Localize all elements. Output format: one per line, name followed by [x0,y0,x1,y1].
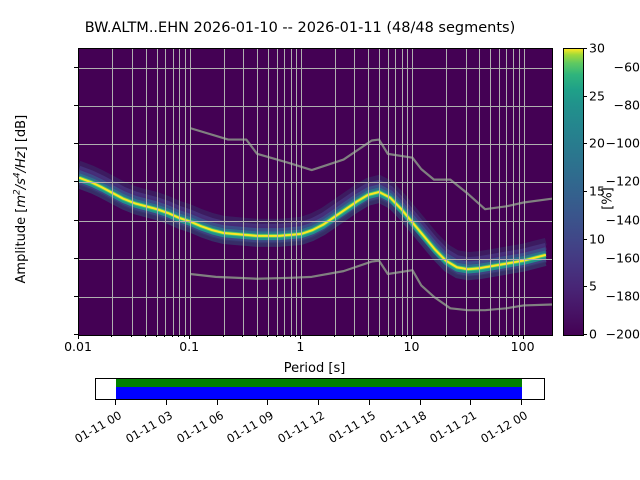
grid-line-vertical [335,49,336,335]
x-axis-minor-tick-mark [178,335,179,337]
y-axis-tick-mark [74,258,78,259]
colorbar-tick-label: 25 [589,88,605,103]
grid-line-vertical [157,49,158,335]
grid-line-vertical [185,49,186,335]
x-axis-minor-tick-mark [172,335,173,337]
grid-line-vertical [146,49,147,335]
coverage-tick-mark [420,400,421,405]
y-axis-tick-label: −160 [578,250,640,265]
psd-curves [79,49,552,335]
grid-line-vertical [165,49,166,335]
colorbar-tick-label: 20 [589,136,605,151]
x-axis-minor-tick-mark [295,335,296,337]
coverage-tick-label: 01-11 15 [317,408,378,451]
colorbar-tick-mark [583,334,587,335]
coverage-tick-mark [217,400,218,405]
colorbar-tick-label: 0 [589,327,597,342]
page-title: BW.ALTM..EHN 2026-01-10 -- 2026-01-11 (4… [0,20,600,36]
x-axis-minor-tick-mark [276,335,277,337]
coverage-tick-mark [369,400,370,405]
x-axis-minor-tick-mark [184,335,185,337]
y-axis-tick-label: −60 [578,60,640,75]
x-axis-minor-tick-mark [189,335,190,337]
grid-line-vertical [268,49,269,335]
colorbar-tick-label: 5 [589,279,597,294]
grid-line-vertical [354,49,355,335]
x-axis-minor-tick-mark [378,335,379,337]
coverage-tick-mark [318,400,319,405]
y-axis-label-text: Amplitude [ [14,208,29,284]
coverage-tick-mark [115,400,116,405]
grid-line-vertical [524,49,525,335]
grid-line-horizontal [79,68,552,69]
grid-line-horizontal [79,221,552,222]
x-axis-minor-tick-mark [283,335,284,337]
grid-line-vertical [446,49,447,335]
grid-line-vertical [407,49,408,335]
grid-line-vertical [479,49,480,335]
grid-line-vertical [224,49,225,335]
x-axis-minor-tick-mark [465,335,466,337]
x-axis-minor-tick-mark [387,335,388,337]
y-axis-tick-label: −180 [578,288,640,303]
x-axis-minor-tick-mark [498,335,499,337]
coverage-tick-label: 01-12 00 [469,408,530,451]
grid-line-vertical [388,49,389,335]
grid-line-vertical [379,49,380,335]
coverage-tick-label: 01-11 03 [114,408,175,451]
y-axis-tick-mark [74,67,78,68]
x-axis-minor-tick-mark [406,335,407,337]
y-axis-tick-label: −140 [578,212,640,227]
x-axis-minor-tick-mark [267,335,268,337]
grid-line-vertical [277,49,278,335]
x-axis-minor-tick-mark [223,335,224,337]
x-axis-minor-tick-mark [518,335,519,337]
colorbar-tick-label: 10 [589,231,605,246]
x-axis-tick-label: 0.01 [64,339,92,354]
y-axis-tick-label: −80 [578,98,640,113]
x-axis-minor-tick-mark [445,335,446,337]
grid-line-horizontal [79,106,552,107]
coverage-tick-label: 01-11 12 [266,408,327,451]
y-axis-label: Amplitude [m2/s4/Hz] [dB] [13,74,29,324]
x-axis-minor-tick-mark [353,335,354,337]
x-axis-minor-tick-mark [394,335,395,337]
grid-line-vertical [368,49,369,335]
x-axis-minor-tick-mark [290,335,291,337]
colorbar-tick-label: 30 [589,41,605,56]
y-axis-tick-mark [74,220,78,221]
grid-line-horizontal [79,144,552,145]
coverage-axes[interactable] [95,378,545,400]
x-axis-tick-label: 1 [296,339,304,354]
x-axis-minor-tick-mark [489,335,490,337]
grid-line-vertical [112,49,113,335]
grid-line-vertical [190,49,191,335]
y-axis-tick-label: −120 [578,174,640,189]
grid-line-horizontal [79,182,552,183]
x-axis-tick-label: 10 [404,339,420,354]
y-axis-tick-label: −200 [578,327,640,342]
x-axis-minor-tick-mark [156,335,157,337]
y-axis-units: m2/s4/Hz [14,151,29,207]
colorbar-tick-mark [583,286,587,287]
grid-line-vertical [402,49,403,335]
y-axis-tick-mark [74,296,78,297]
colorbar-tick-mark [583,239,587,240]
grid-line-vertical [519,49,520,335]
y-axis-tick-mark [74,143,78,144]
grid-line-vertical [466,49,467,335]
coverage-tick-label: 01-11 06 [165,408,226,451]
colorbar-tick-label: 15 [589,184,605,199]
grid-line-horizontal [79,297,552,298]
x-axis-minor-tick-mark [505,335,506,337]
grid-line-vertical [173,49,174,335]
coverage-tick-label: 01-11 09 [216,408,277,451]
psd-plot-inner [79,49,552,335]
coverage-tick-mark [521,400,522,405]
x-axis-minor-tick-mark [242,335,243,337]
grid-line-vertical [506,49,507,335]
colorbar-tick-mark [583,191,587,192]
coverage-tick-mark [267,400,268,405]
coverage-tick-mark [166,400,167,405]
coverage-band-green [116,379,522,387]
coverage-tick-label: 01-11 21 [419,408,480,451]
x-axis-minor-tick-mark [401,335,402,337]
grid-line-vertical [395,49,396,335]
colorbar-tick-mark [583,48,587,49]
x-axis-tick-label: 0.1 [179,339,199,354]
grid-line-vertical [499,49,500,335]
grid-line-vertical [490,49,491,335]
grid-line-vertical [301,49,302,335]
coverage-tick-mark [470,400,471,405]
coverage-tick-label: 01-11 00 [63,408,124,451]
y-axis-tick-label: −100 [578,136,640,151]
y-axis-tick-mark [74,181,78,182]
grid-line-vertical [513,49,514,335]
x-axis-minor-tick-mark [478,335,479,337]
psd-plot-area[interactable] [78,48,553,336]
grid-line-vertical [132,49,133,335]
x-axis-minor-tick-mark [300,335,301,337]
grid-line-vertical [179,49,180,335]
grid-line-vertical [284,49,285,335]
x-axis-minor-tick-mark [367,335,368,337]
y-axis-tick-mark [74,105,78,106]
coverage-tick-label: 01-11 18 [368,408,429,451]
grid-line-vertical [291,49,292,335]
grid-line-vertical [296,49,297,335]
x-axis-minor-tick-mark [256,335,257,337]
x-axis-tick-label: 100 [511,339,535,354]
x-axis-minor-tick-mark [111,335,112,337]
grid-line-vertical [243,49,244,335]
x-axis-minor-tick-mark [145,335,146,337]
x-axis-minor-tick-mark [78,335,79,337]
x-axis-minor-tick-mark [512,335,513,337]
colorbar-tick-mark [583,143,587,144]
grid-line-horizontal [79,259,552,260]
x-axis-label: Period [s] [78,361,551,376]
grid-line-vertical [412,49,413,335]
grid-line-vertical [257,49,258,335]
x-axis-minor-tick-mark [131,335,132,337]
x-axis-minor-tick-mark [334,335,335,337]
ppsd-figure: BW.ALTM..EHN 2026-01-10 -- 2026-01-11 (4… [0,0,640,480]
x-axis-minor-tick-mark [164,335,165,337]
coverage-band-blue [116,387,522,399]
x-axis-minor-tick-mark [523,335,524,337]
x-axis-minor-tick-mark [411,335,412,337]
colorbar-tick-mark [583,96,587,97]
